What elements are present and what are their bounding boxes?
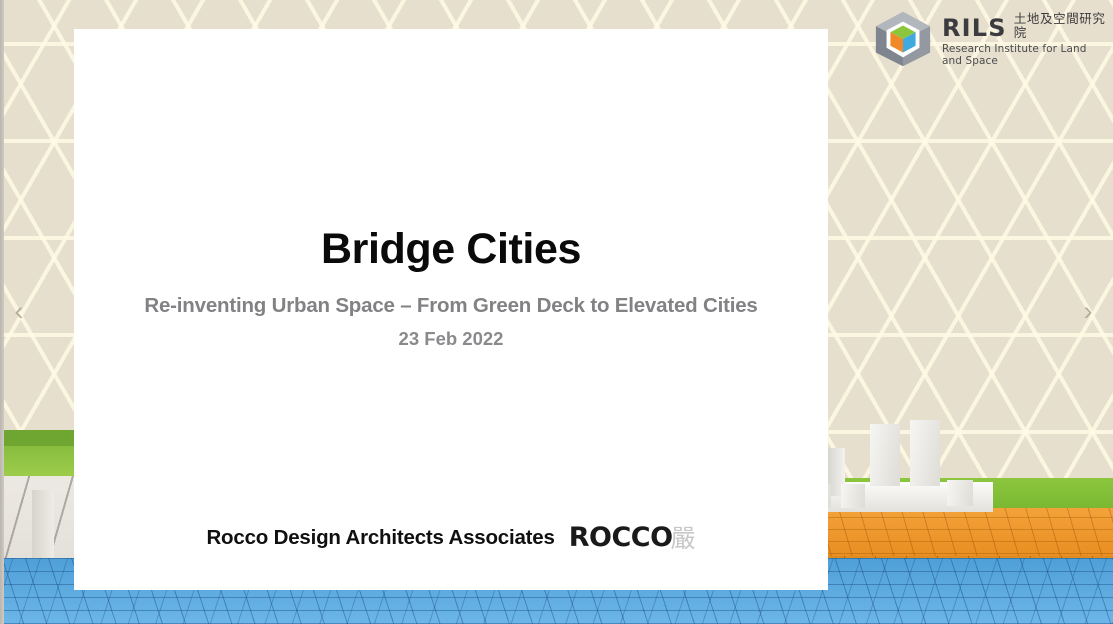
slide-card[interactable]: Bridge Cities Re-inventing Urban Space –… [74,29,828,590]
slide-date: 23 Feb 2022 [74,328,828,350]
rocco-chinese-character: 嚴 [671,527,696,552]
rils-logo: RILS 土地及空間研究院 Research Institute for Lan… [872,8,1108,70]
rils-chinese-name: 土地及空間研究院 [1014,13,1108,41]
rocco-wordmark: ROCCO [569,524,673,551]
model-tower-a [870,424,900,486]
slide-subtitle: Re-inventing Urban Space – From Green De… [74,294,828,318]
rocco-logo: ROCCO 嚴 [569,524,696,552]
model-block-f [841,484,865,508]
model-block-e [947,480,973,506]
model-green-belt-left-upper [0,430,82,446]
slide-footer: Rocco Design Architects Associates ROCCO… [74,524,828,552]
rils-subtitle: Research Institute for Land and Space [942,43,1108,67]
rils-cube-logo-icon [872,10,934,68]
left-edge-gutter [0,0,4,624]
slide-title: Bridge Cities [74,225,828,274]
rils-logo-text: RILS 土地及空間研究院 Research Institute for Lan… [942,11,1108,68]
chevron-left-icon[interactable]: ‹ [6,296,32,326]
slide-content: Bridge Cities Re-inventing Urban Space –… [74,29,828,590]
chevron-right-icon[interactable]: › [1075,296,1101,326]
model-tower-b [910,420,940,486]
firm-name: Rocco Design Architects Associates [206,526,554,550]
rils-wordmark: RILS [942,16,1007,40]
